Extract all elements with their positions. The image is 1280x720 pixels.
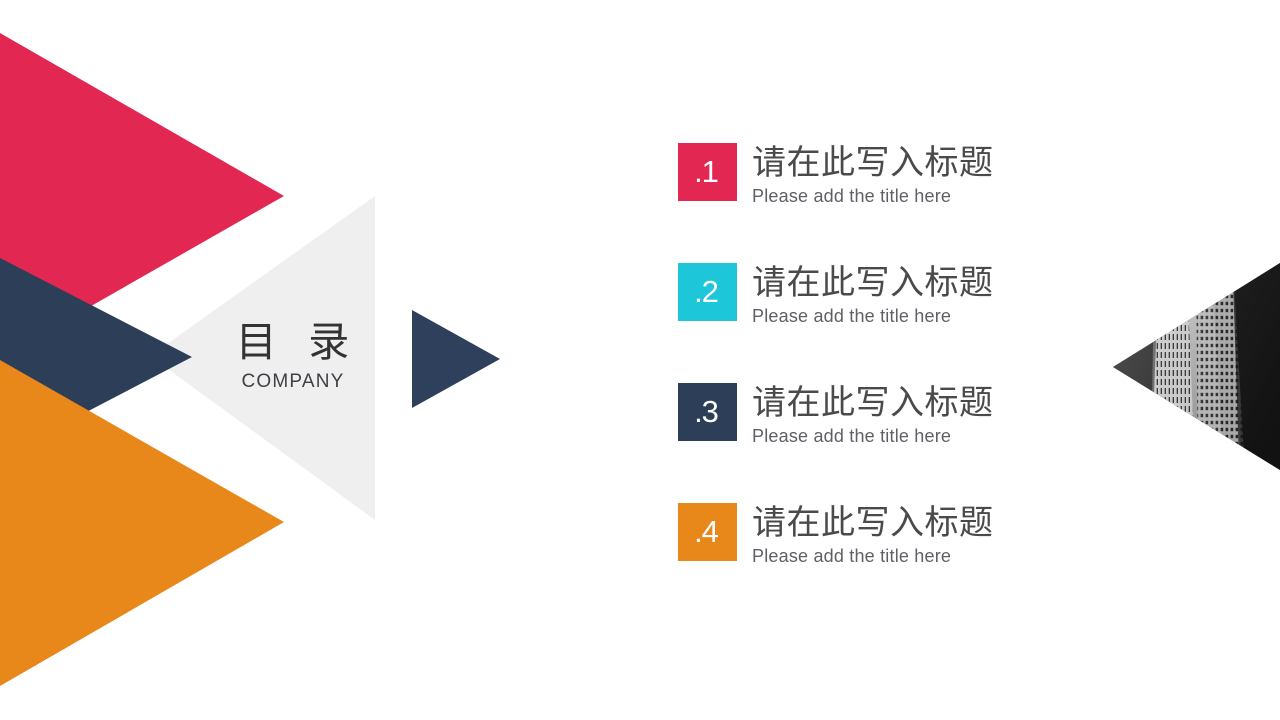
- agenda-text-1: 请在此写入标题 Please add the title here: [752, 142, 994, 207]
- orange-triangle: [0, 360, 284, 686]
- agenda-item-3[interactable]: .3 请在此写入标题 Please add the title here: [678, 383, 1158, 441]
- agenda-number-badge-4[interactable]: .4: [678, 503, 737, 561]
- agenda-text-4: 请在此写入标题 Please add the title here: [752, 502, 994, 567]
- agenda-title-3: 请在此写入标题: [752, 382, 994, 424]
- agenda-number-badge-2[interactable]: .2: [678, 263, 737, 321]
- agenda-number-badge-1[interactable]: .1: [678, 143, 737, 201]
- agenda-item-1[interactable]: .1 请在此写入标题 Please add the title here: [678, 143, 1158, 201]
- slide-canvas: 目 录 COMPANY .1 请在此写入标题 Please add the ti…: [0, 0, 1280, 720]
- center-title-block: 目 录 COMPANY: [205, 318, 380, 395]
- agenda-text-3: 请在此写入标题 Please add the title here: [752, 382, 994, 447]
- agenda-subtitle-4: Please add the title here: [752, 545, 994, 567]
- agenda-title-1: 请在此写入标题: [752, 142, 994, 184]
- agenda-list: .1 请在此写入标题 Please add the title here .2 …: [678, 143, 1158, 561]
- agenda-text-2: 请在此写入标题 Please add the title here: [752, 262, 994, 327]
- agenda-title-2: 请在此写入标题: [752, 262, 994, 304]
- agenda-subtitle-3: Please add the title here: [752, 425, 994, 447]
- agenda-subtitle-2: Please add the title here: [752, 305, 994, 327]
- arrow-right-icon: [412, 310, 500, 408]
- crimson-triangle: [0, 33, 284, 358]
- agenda-number-badge-3[interactable]: .3: [678, 383, 737, 441]
- agenda-item-4[interactable]: .4 请在此写入标题 Please add the title here: [678, 503, 1158, 561]
- agenda-item-2[interactable]: .2 请在此写入标题 Please add the title here: [678, 263, 1158, 321]
- center-title-cn: 目 录: [205, 318, 380, 366]
- navy-triangle: [0, 258, 192, 457]
- agenda-title-4: 请在此写入标题: [752, 502, 994, 544]
- agenda-subtitle-1: Please add the title here: [752, 185, 994, 207]
- center-title-en: COMPANY: [205, 369, 380, 395]
